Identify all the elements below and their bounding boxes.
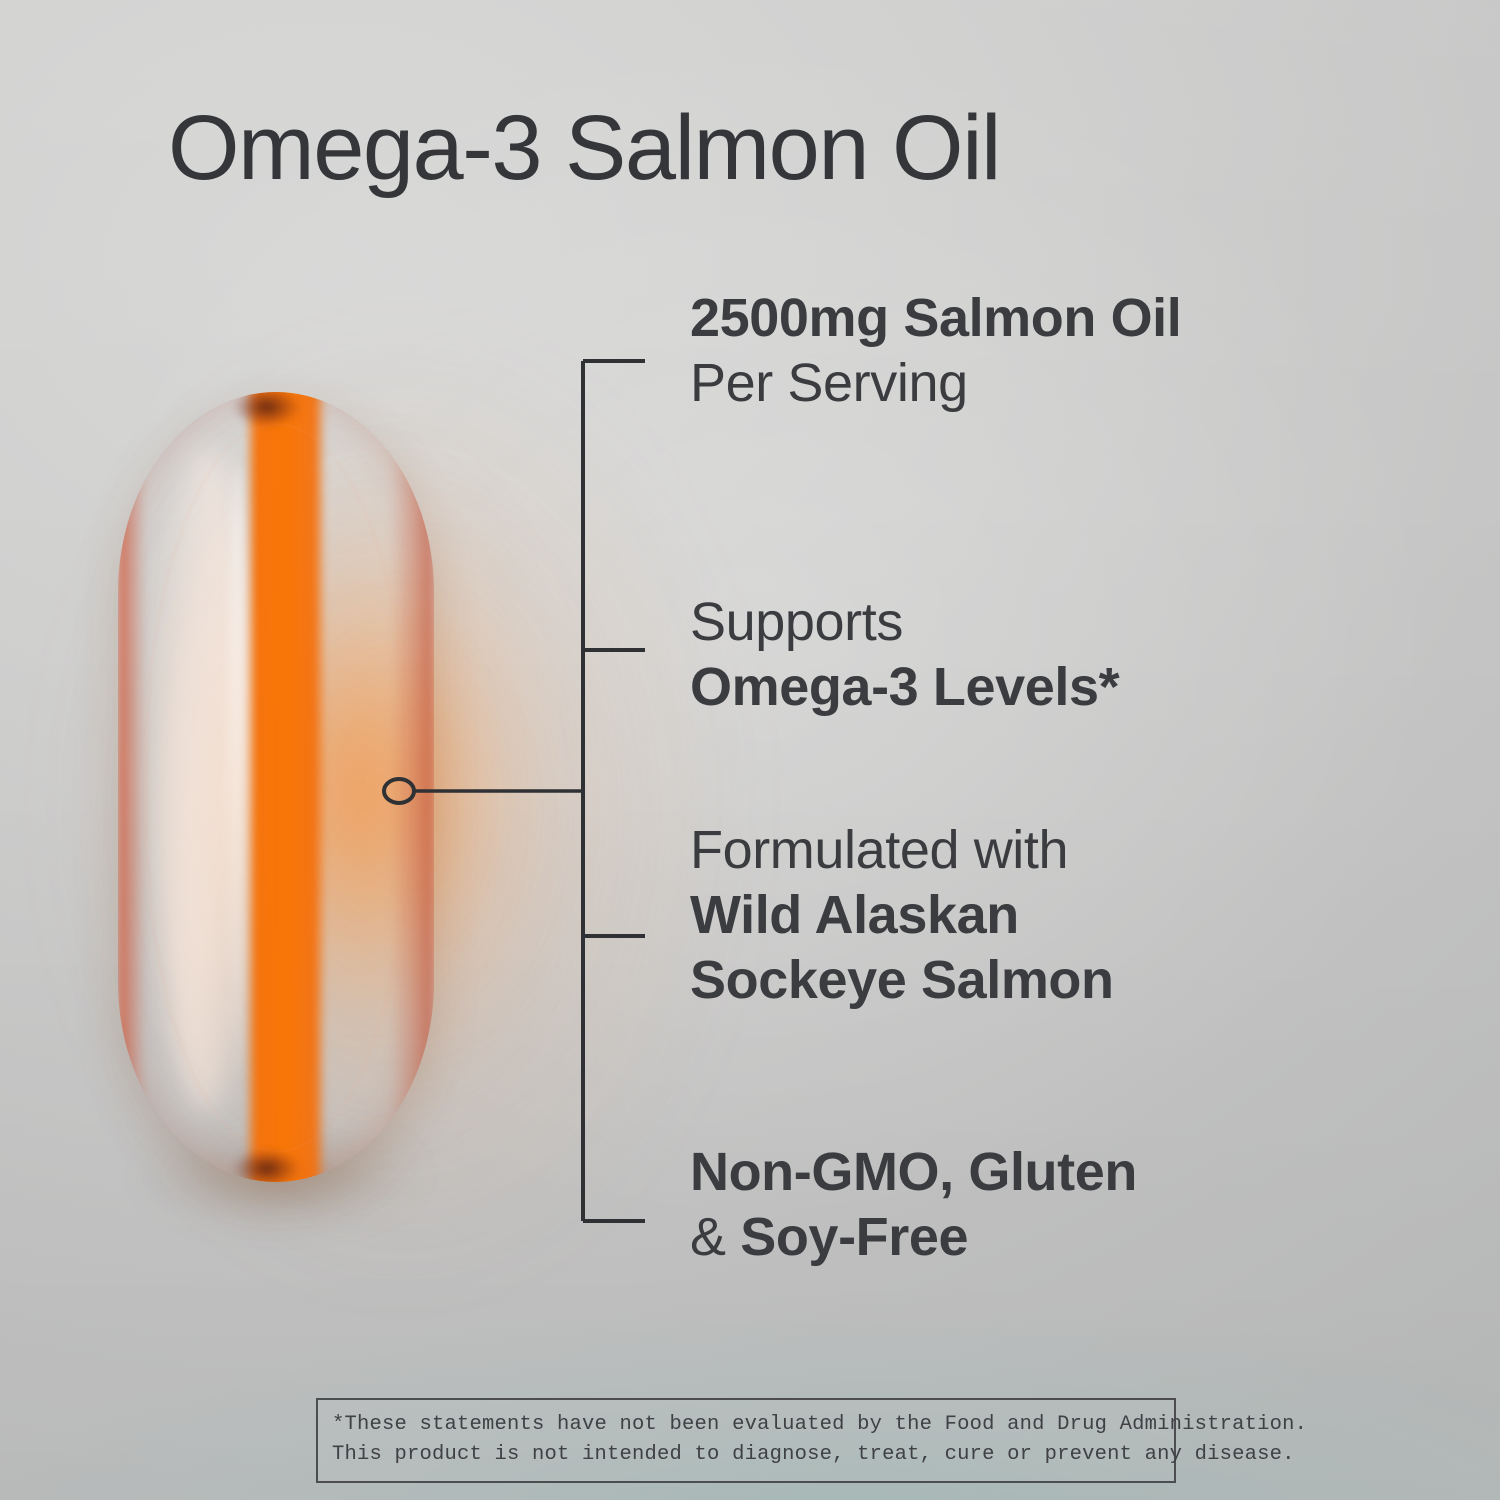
feature-sockeye-source-line-2: Wild Alaskan — [690, 883, 1350, 948]
feature-list: 2500mg Salmon Oil Per Serving Supports O… — [690, 0, 1390, 1500]
feature-omega-levels-line-1: Supports — [690, 590, 1350, 655]
feature-dose-line-2: Per Serving — [690, 351, 1350, 416]
softgel-body — [118, 392, 434, 1182]
fda-disclaimer-line-1: *These statements have not been evaluate… — [332, 1410, 1160, 1440]
feature-free-from: Non-GMO, Gluten & Soy-Free — [690, 1140, 1350, 1270]
softgel-seal-bottom — [232, 1149, 302, 1182]
feature-sockeye-source: Formulated with Wild Alaskan Sockeye Sal… — [690, 818, 1350, 1012]
feature-sockeye-source-line-1: Formulated with — [690, 818, 1350, 883]
feature-free-from-emphasis: Soy-Free — [740, 1207, 968, 1267]
softgel-seal-top — [232, 392, 302, 427]
feature-free-from-ampersand: & — [690, 1207, 740, 1267]
fda-disclaimer-box: *These statements have not been evaluate… — [316, 1398, 1176, 1483]
feature-omega-levels: Supports Omega-3 Levels* — [690, 590, 1350, 720]
softgel-left-rim — [118, 392, 146, 1182]
feature-free-from-line-2: & Soy-Free — [690, 1205, 1350, 1270]
feature-free-from-line-1: Non-GMO, Gluten — [690, 1140, 1350, 1205]
fda-disclaimer-line-2: This product is not intended to diagnose… — [332, 1440, 1160, 1470]
softgel-capsule — [118, 392, 434, 1182]
feature-dose: 2500mg Salmon Oil Per Serving — [690, 286, 1350, 416]
feature-sockeye-source-line-3: Sockeye Salmon — [690, 948, 1350, 1013]
softgel-crease — [146, 424, 407, 1153]
feature-dose-line-1: 2500mg Salmon Oil — [690, 286, 1350, 351]
feature-omega-levels-line-2: Omega-3 Levels* — [690, 655, 1350, 720]
product-infographic: Omega-3 Salmon Oil — [0, 0, 1500, 1500]
